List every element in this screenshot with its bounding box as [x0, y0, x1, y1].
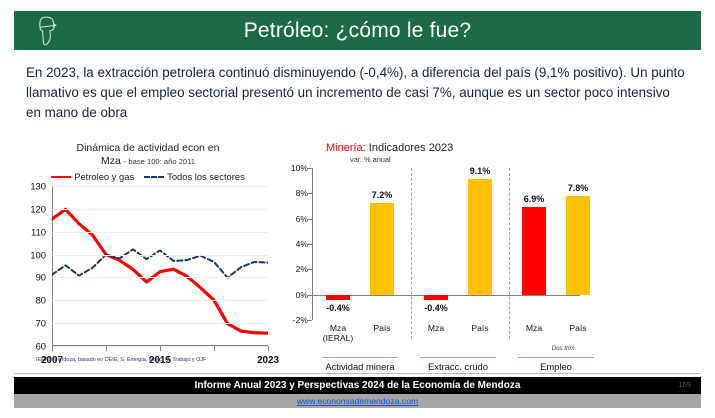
- bar-chart-title-accent: Minería:: [326, 142, 366, 154]
- bar-group-note: Dos trim.: [552, 345, 577, 352]
- line-chart-legend: Petroleo y gas Todos los sectores: [22, 171, 274, 182]
- bar-value-label: 6.9%: [524, 194, 545, 204]
- legend-item-todos: Todos los sectores: [144, 171, 245, 182]
- line-chart-x-tick: [214, 346, 215, 351]
- footer-bar: Informe Anual 2023 y Perspectivas 2024 d…: [14, 377, 701, 394]
- mendoza-map-icon: [30, 15, 64, 47]
- bar-group-label: Extracc. crudo: [428, 361, 488, 372]
- line-chart-y-tick-label: 110: [22, 226, 46, 237]
- bar-category-sublabel: (IERAL): [323, 333, 354, 343]
- line-chart-y-tick-label: 120: [22, 203, 46, 214]
- legend-item-petroleo: Petroleo y gas: [51, 171, 134, 182]
- bar-chart-y-tick-label: 8%: [282, 188, 308, 198]
- body-paragraph: En 2023, la extracción petrolera continu…: [26, 63, 686, 123]
- bar-mza[interactable]: [326, 295, 350, 300]
- line-chart-x-tick: [106, 346, 107, 351]
- bar-category-label: País: [373, 323, 390, 333]
- bar-chart-y-tick: [308, 219, 312, 220]
- bar-group-separator: [411, 168, 412, 339]
- bar-chart-y-tick-label: 2%: [282, 264, 308, 274]
- line-chart-title: Dinámica de actividad econ en Mza - base…: [22, 142, 274, 168]
- line-chart-x-tick: [160, 346, 161, 351]
- bar-category-label: País: [471, 323, 488, 333]
- line-chart-title-note: - base 100: año 2011: [124, 157, 195, 166]
- bar-chart-y-tick-label: 4%: [282, 239, 308, 249]
- bar-chart-subtitle: var. % anual: [282, 155, 700, 164]
- bar-group-separator: [509, 168, 510, 339]
- line-chart-gridline: [52, 300, 268, 301]
- bar-chart-y-tick: [308, 320, 312, 321]
- bar-group-rule: [518, 357, 594, 358]
- footer-divider: [14, 373, 701, 374]
- footer-link-bar: www.economiademendoza.com: [14, 394, 701, 408]
- line-chart-x-tick: [268, 346, 269, 351]
- bar-chart-y-tick-label: 10%: [282, 163, 308, 173]
- line-chart-title-line1: Dinámica de actividad econ en: [76, 142, 219, 154]
- line-chart-actividad: Dinámica de actividad econ en Mza - base…: [22, 142, 274, 374]
- bar-value-label: 7.2%: [372, 190, 393, 200]
- bar-value-label: -0.4%: [326, 303, 350, 313]
- page-title: Petróleo: ¿cómo le fue?: [244, 19, 472, 43]
- line-chart-y-tick-label: 100: [22, 249, 46, 260]
- slide-header: Petróleo: ¿cómo le fue?: [14, 11, 701, 50]
- line-chart-x-tick: [52, 346, 53, 351]
- bar-chart-title-rest: Indicadores 2023: [366, 142, 453, 154]
- line-chart-series-layer: [52, 186, 268, 346]
- legend-label-todos: Todos los sectores: [167, 171, 245, 182]
- line-chart-gridline: [52, 209, 268, 210]
- bar-group-label: Empleo: [540, 361, 572, 372]
- bar-chart-mineria: Minería: Indicadores 2023 var. % anual -…: [282, 142, 700, 374]
- bar-category-label: País: [569, 323, 586, 333]
- bar-category-group-label: País: [569, 323, 586, 333]
- bar-value-label: 7.8%: [568, 183, 589, 193]
- bar-chart-y-axis: [312, 168, 313, 320]
- line-chart-gridline: [52, 186, 268, 187]
- bar-category-group-label: País: [471, 323, 488, 333]
- bar-group-label: Actividad minera: [325, 361, 394, 372]
- bar-category-label: Mza: [428, 323, 444, 333]
- footer-title: Informe Anual 2023 y Perspectivas 2024 d…: [195, 380, 521, 391]
- bar-chart-title: Minería: Indicadores 2023: [282, 142, 700, 154]
- bar-chart-y-tick-label: 0%: [282, 290, 308, 300]
- bar-chart-y-tick: [308, 244, 312, 245]
- bar-pais[interactable]: [370, 203, 394, 294]
- line-chart-gridline: [52, 323, 268, 324]
- line-chart-plot-area: 60708090100110120130200720152023: [22, 186, 274, 346]
- bar-chart-y-tick: [308, 269, 312, 270]
- bar-mza[interactable]: [424, 295, 448, 300]
- bar-category-group-label: Mza: [526, 323, 542, 333]
- legend-swatch-solid-icon: [51, 176, 71, 178]
- line-chart-y-tick-label: 130: [22, 181, 46, 192]
- bar-group-rule: [322, 357, 398, 358]
- website-link[interactable]: www.economiademendoza.com: [297, 396, 418, 406]
- bar-chart-y-tick: [308, 193, 312, 194]
- bar-value-label: -0.4%: [424, 303, 448, 313]
- bar-category-label: Mza: [526, 323, 542, 333]
- page-number: 169: [678, 380, 691, 389]
- bar-category-label: Mza: [323, 323, 354, 333]
- line-chart-y-tick-label: 70: [22, 318, 46, 329]
- bar-mza[interactable]: [522, 207, 546, 294]
- bar-chart-y-tick-label: -2%: [282, 315, 308, 325]
- bar-pais[interactable]: [468, 179, 492, 294]
- line-chart-y-tick-label: 90: [22, 272, 46, 283]
- line-chart-y-tick-label: 60: [22, 341, 46, 352]
- line-chart-gridline: [52, 277, 268, 278]
- bar-chart-y-tick-label: 6%: [282, 214, 308, 224]
- bar-value-label: 9.1%: [470, 166, 491, 176]
- bar-category-group-label: Mza(IERAL): [323, 323, 354, 343]
- line-chart-source: IERAL Mendoza, basado en DEIE, S. Energí…: [36, 356, 276, 364]
- line-chart-y-tick-label: 80: [22, 295, 46, 306]
- line-chart-gridline: [52, 255, 268, 256]
- legend-swatch-dashed-icon: [144, 176, 164, 178]
- bar-chart-y-tick: [308, 295, 312, 296]
- bar-chart-plot-area: -2%0%2%4%6%8%10%-0.4%Mza(IERAL)7.2%PaísA…: [282, 168, 700, 320]
- line-chart-gridline: [52, 232, 268, 233]
- bar-group-rule: [420, 357, 496, 358]
- bar-pais[interactable]: [566, 196, 590, 295]
- bar-category-group-label: País: [373, 323, 390, 333]
- legend-label-petroleo: Petroleo y gas: [74, 171, 134, 182]
- bar-chart-y-tick: [308, 168, 312, 169]
- bar-category-group-label: Mza: [428, 323, 444, 333]
- slide: Petróleo: ¿cómo le fue? En 2023, la extr…: [0, 0, 715, 418]
- line-chart-title-line2: Mza: [101, 155, 121, 167]
